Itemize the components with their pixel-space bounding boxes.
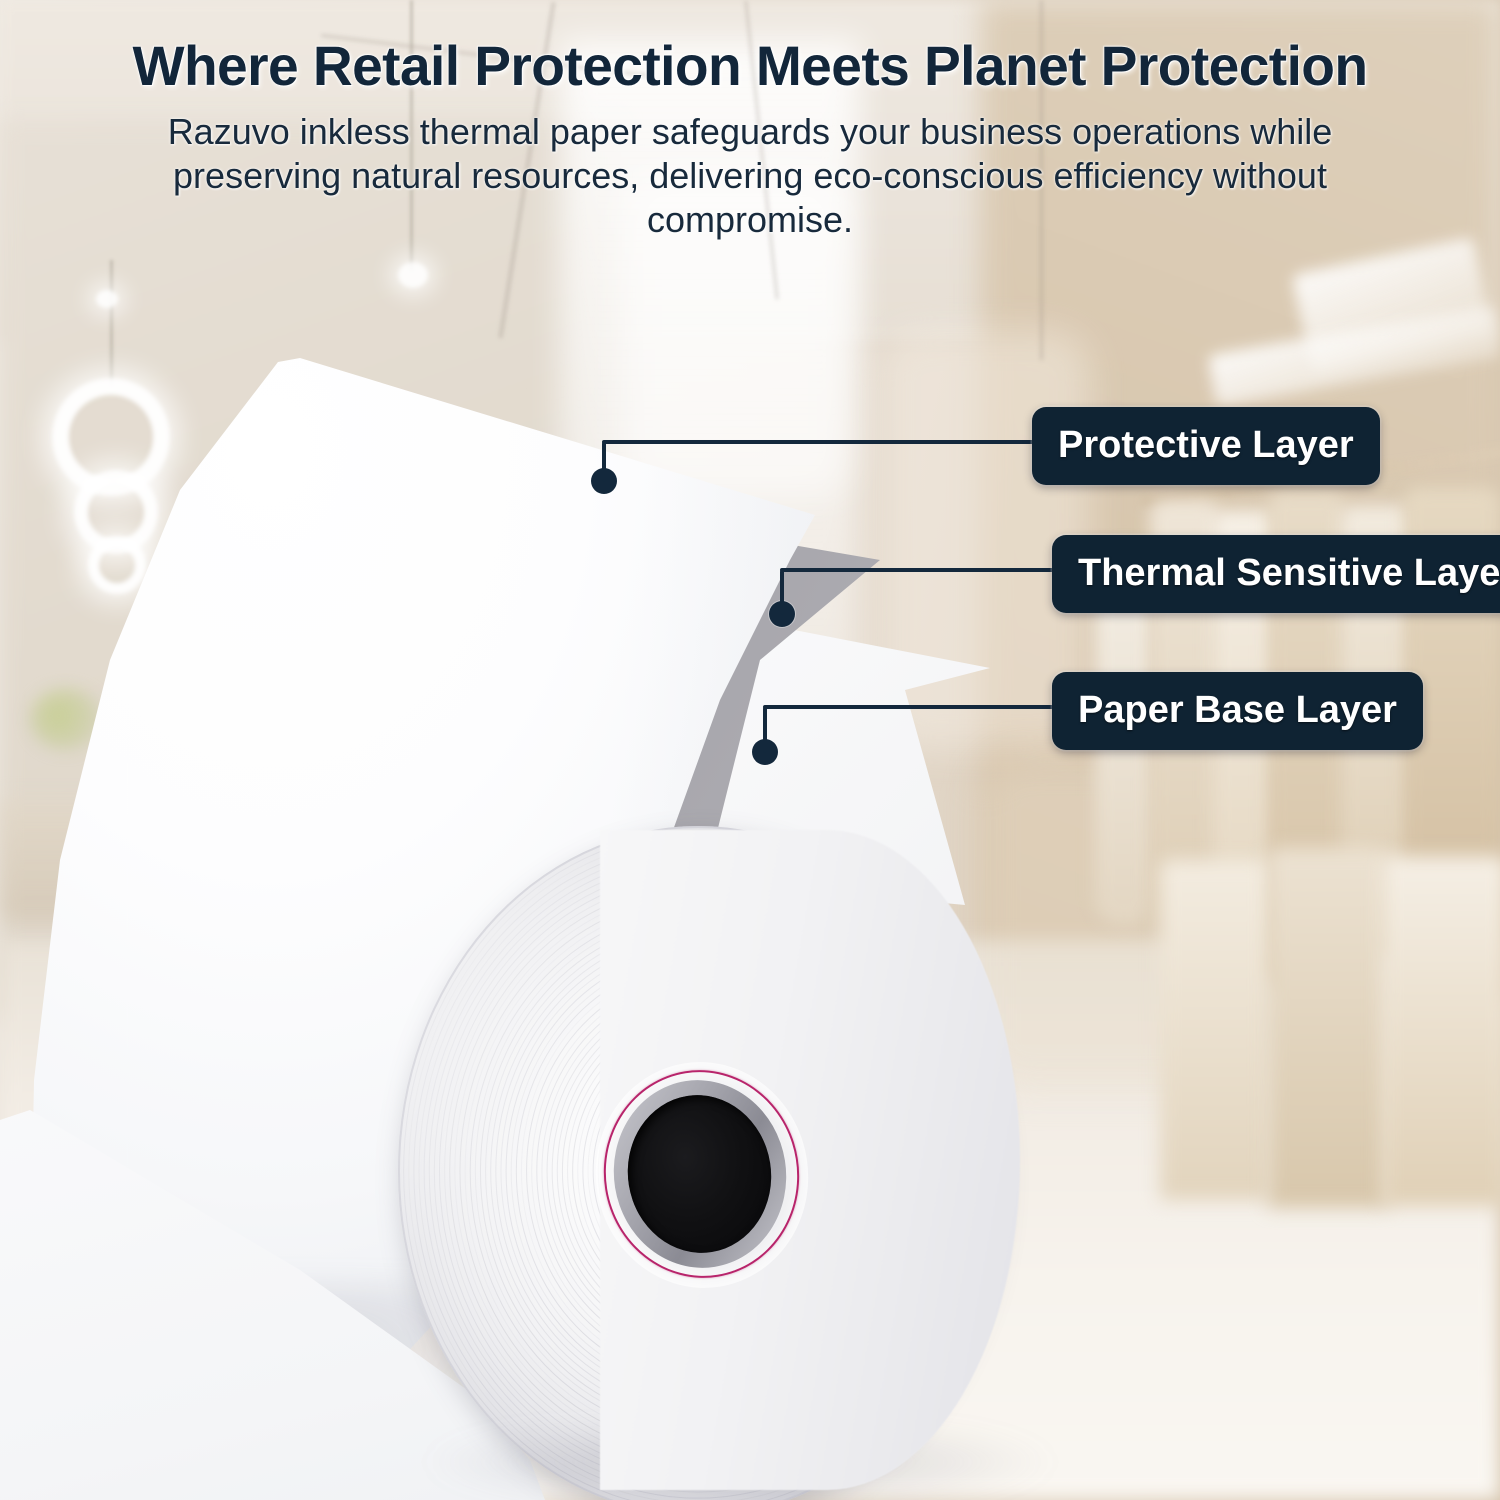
- callout-badge-thermal-sensitive-layer[interactable]: Thermal Sensitive Layer: [1052, 535, 1500, 613]
- callout-group: Protective Layer Thermal Sensitive Layer…: [0, 0, 1500, 1500]
- callout-horizontal-protective-layer: [602, 440, 1042, 444]
- callout-vertical-paper-base-layer: [763, 707, 767, 753]
- callout-horizontal-paper-base-layer: [763, 705, 1062, 709]
- callout-vertical-protective-layer: [602, 442, 606, 482]
- callout-badge-paper-base-layer[interactable]: Paper Base Layer: [1052, 672, 1423, 750]
- infographic-canvas: Where Retail Protection Meets Planet Pro…: [0, 0, 1500, 1500]
- callout-vertical-thermal-sensitive-layer: [780, 570, 784, 615]
- callout-badge-protective-layer[interactable]: Protective Layer: [1032, 407, 1380, 485]
- callout-horizontal-thermal-sensitive-layer: [780, 568, 1062, 572]
